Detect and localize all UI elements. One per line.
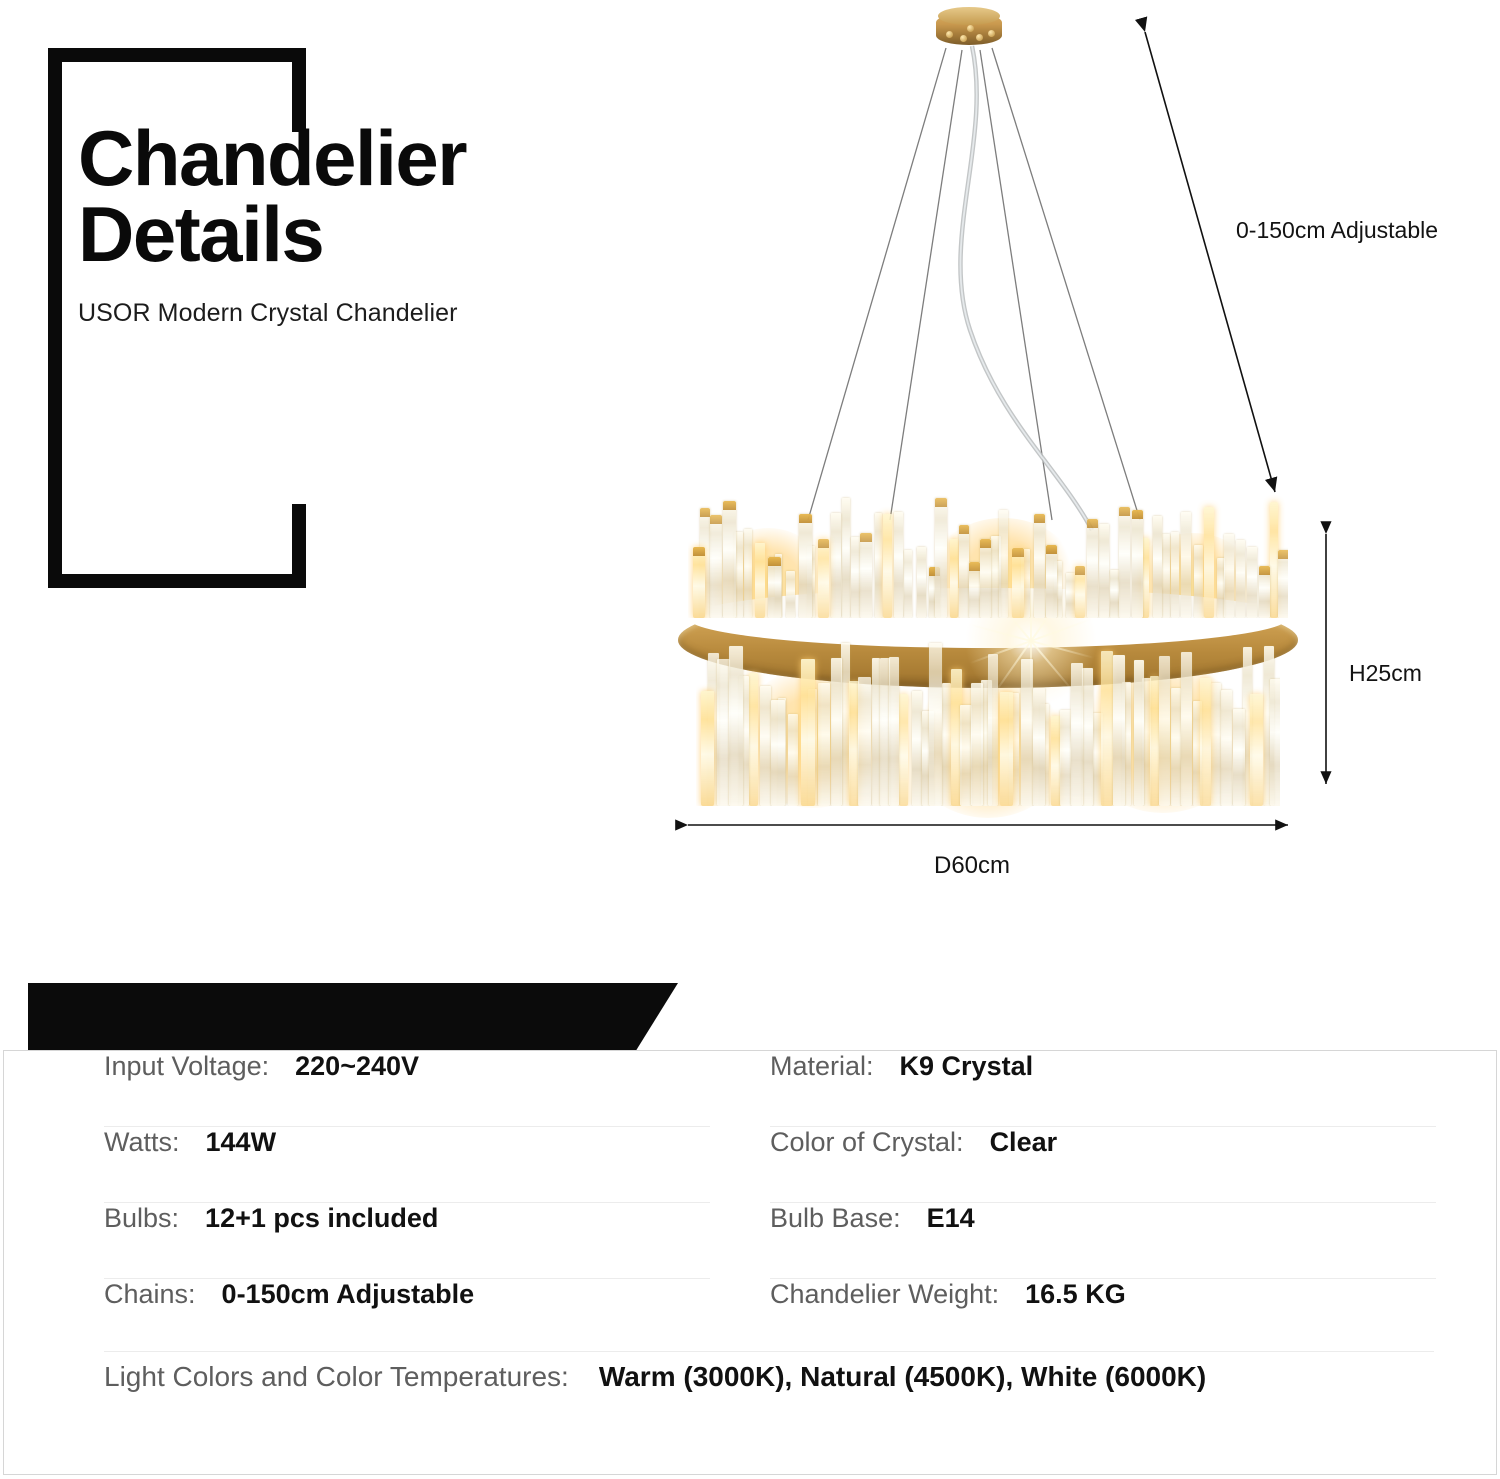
- crystal-gold-tip: [723, 501, 736, 510]
- crystal-rod: [1099, 524, 1109, 618]
- spec-row: Watts:144W: [104, 1127, 710, 1203]
- page-title-line2: Details: [78, 196, 698, 272]
- crystal-rod: [1171, 688, 1181, 806]
- crystal-rod: [1012, 548, 1024, 618]
- crystal-rod: [1159, 656, 1170, 806]
- crystal-rod: [1247, 547, 1257, 618]
- crystal-rod: [760, 686, 771, 806]
- crystal-gold-tip: [1075, 566, 1085, 575]
- crystal-gold-tip: [1278, 550, 1288, 559]
- crystal-rod: [1113, 655, 1125, 806]
- crystal-rod: [749, 673, 758, 806]
- spec-column-left: Input Voltage:220~240VWatts:144WBulbs:12…: [4, 1051, 750, 1355]
- crystal-rod: [755, 543, 765, 618]
- crystal-gold-tip: [710, 515, 722, 524]
- crystal-rod: [1071, 663, 1083, 806]
- crystal-rod: [693, 547, 705, 618]
- spec-value: E14: [927, 1203, 975, 1234]
- spec-label: Chains:: [104, 1279, 196, 1310]
- crystal-rod: [872, 658, 880, 806]
- crystal-rod: [971, 683, 983, 806]
- crystal-rod: [788, 714, 798, 806]
- crystal-rod: [1221, 690, 1232, 806]
- crystal-rod: [1119, 507, 1130, 618]
- crystal-rod: [1060, 710, 1071, 806]
- crystal-rod: [1171, 532, 1179, 618]
- spec-column-right: Material:K9 CrystalColor of Crystal:Clea…: [750, 1051, 1496, 1355]
- crystal-rod: [904, 550, 912, 618]
- spec-row: Material:K9 Crystal: [770, 1051, 1436, 1127]
- product-photo: [640, 0, 1500, 900]
- crystal-rod: [1033, 688, 1045, 806]
- spec-value: K9 Crystal: [900, 1051, 1034, 1082]
- spec-value: 220~240V: [295, 1051, 419, 1082]
- crystal-rod: [771, 700, 785, 806]
- spec-row: Chains:0-150cm Adjustable: [104, 1279, 710, 1355]
- crystal-rod: [1101, 651, 1113, 806]
- crystal-rod: [860, 533, 872, 618]
- crystal-rod: [988, 654, 998, 806]
- crystal-rod: [912, 691, 922, 806]
- spec-row-light-colors: Light Colors and Color Temperatures: War…: [104, 1361, 1434, 1437]
- crystal-rod: [768, 557, 781, 618]
- spec-value: Warm (3000K), Natural (4500K), White (60…: [599, 1361, 1206, 1393]
- crystal-rod: [1150, 676, 1159, 806]
- crystal-rod: [831, 658, 842, 806]
- spec-banner-title: PRODUCT SPECIFICATION: [34, 12, 491, 52]
- crystal-gold-tip: [1259, 566, 1270, 575]
- crystal-gold-tip: [1132, 510, 1143, 519]
- crystal-rod: [1162, 534, 1170, 618]
- crystal-gold-tip: [1034, 514, 1045, 523]
- crystal-gold-tip: [700, 508, 710, 517]
- crystal-gold-tip: [693, 547, 705, 556]
- crystal-rod: [801, 659, 815, 806]
- crystal-rod: [969, 562, 980, 618]
- crystal-rod: [1066, 573, 1075, 618]
- crystal-rod: [1204, 507, 1214, 618]
- crystal-rod: [889, 657, 899, 806]
- crystal-rod: [1181, 652, 1192, 806]
- crystal-rod: [875, 513, 882, 618]
- crystal-rod: [929, 643, 942, 806]
- crystal-rod: [942, 683, 951, 806]
- crystal-rod: [1021, 659, 1033, 806]
- page-subtitle: USOR Modern Crystal Chandelier: [78, 299, 698, 328]
- spec-label: Color of Crystal:: [770, 1127, 964, 1158]
- crystal-rod: [729, 646, 743, 806]
- spec-value: 16.5 KG: [1025, 1279, 1126, 1310]
- crystal-gold-tip: [799, 514, 812, 523]
- crystal-rod: [1233, 709, 1245, 806]
- spec-row: Color of Crystal:Clear: [770, 1127, 1436, 1203]
- spec-label: Material:: [770, 1051, 874, 1082]
- crystal-rod: [1250, 694, 1263, 806]
- crystal-gold-tip: [980, 539, 991, 548]
- crystal-rod: [858, 677, 871, 806]
- spec-label: Chandelier Weight:: [770, 1279, 999, 1310]
- spec-row: Chandelier Weight:16.5 KG: [770, 1279, 1436, 1355]
- crystal-rod: [1075, 566, 1085, 618]
- spec-full-row-divider: [104, 1351, 1434, 1352]
- crystal-rod: [1194, 545, 1203, 618]
- crystal-rod: [999, 510, 1008, 618]
- spec-table: Input Voltage:220~240VWatts:144WBulbs:12…: [3, 1050, 1497, 1475]
- crystal-rod: [1200, 678, 1211, 806]
- crystal-gold-tip: [935, 498, 947, 507]
- crystal-rod: [1153, 516, 1162, 618]
- crystal-rod: [1134, 660, 1144, 806]
- crystal-rod: [1278, 550, 1288, 618]
- crystal-gold-tip: [1012, 548, 1024, 557]
- crystal-rod: [1110, 570, 1119, 618]
- page-title-group: Chandelier Details USOR Modern Crystal C…: [78, 120, 698, 328]
- product-detail-page: Chandelier Details USOR Modern Crystal C…: [0, 0, 1500, 1479]
- frame-left-edge: [48, 48, 62, 588]
- crystal-gold-tip: [969, 562, 980, 571]
- spec-value: Clear: [990, 1127, 1058, 1158]
- crystal-rod: [935, 498, 947, 618]
- crystal-rod: [842, 498, 850, 618]
- crystal-rod: [1270, 679, 1280, 806]
- crystal-rod: [959, 525, 969, 618]
- crystal-rod: [744, 529, 752, 618]
- frame-right-bottom-edge: [292, 504, 306, 588]
- crystal-rod: [786, 571, 795, 618]
- spec-label: Bulbs:: [104, 1203, 179, 1234]
- spec-row: Bulbs:12+1 pcs included: [104, 1203, 710, 1279]
- crystal-rod: [710, 515, 722, 618]
- crystal-rod: [851, 537, 860, 618]
- crystal-rod: [1000, 692, 1013, 806]
- crystal-rod: [1259, 566, 1270, 618]
- power-cord: [960, 46, 1092, 530]
- crystal-rod: [701, 691, 714, 806]
- crystal-rod: [1132, 510, 1143, 618]
- crystal-row-lower: [696, 636, 1280, 806]
- crystal-rod: [1224, 534, 1234, 618]
- spec-value: 12+1 pcs included: [205, 1203, 438, 1234]
- crystal-rod: [831, 513, 841, 618]
- crystal-gold-tip: [1046, 545, 1057, 554]
- crystal-gold-tip: [860, 533, 872, 542]
- crystal-rod: [1270, 502, 1278, 618]
- crystal-rod: [894, 512, 903, 618]
- spec-label: Bulb Base:: [770, 1203, 901, 1234]
- crystal-rod: [1211, 683, 1221, 806]
- crystal-rod: [818, 683, 830, 806]
- crystal-rod: [1181, 512, 1191, 618]
- spec-row: Input Voltage:220~240V: [104, 1051, 710, 1127]
- crystal-rod: [883, 514, 892, 618]
- spec-label: Input Voltage:: [104, 1051, 269, 1082]
- spec-label: Light Colors and Color Temperatures:: [104, 1361, 569, 1393]
- spec-banner: [28, 983, 678, 1051]
- crystal-row-upper: [688, 488, 1288, 618]
- crystal-rod: [723, 501, 736, 618]
- crystal-rod: [917, 547, 926, 618]
- crystal-rod: [1046, 545, 1057, 618]
- crystal-rod: [1236, 540, 1245, 618]
- page-title-line1: Chandelier: [78, 120, 698, 196]
- crystal-rod: [950, 539, 958, 618]
- crystal-gold-tip: [818, 539, 829, 548]
- crystal-gold-tip: [959, 525, 969, 534]
- crystal-gold-tip: [1119, 507, 1130, 516]
- crystal-rod: [818, 539, 829, 618]
- frame-bottom-edge: [48, 574, 306, 588]
- crystal-rod: [980, 539, 991, 618]
- chandelier-fixture: [678, 488, 1298, 808]
- crystal-rod: [899, 694, 908, 806]
- crystal-rod: [1082, 668, 1093, 806]
- spec-columns: Input Voltage:220~240VWatts:144WBulbs:12…: [4, 1051, 1496, 1355]
- spec-label: Watts:: [104, 1127, 180, 1158]
- crystal-gold-tip: [1087, 519, 1098, 528]
- spec-row: Bulb Base:E14: [770, 1203, 1436, 1279]
- crystal-rod: [799, 514, 812, 618]
- crystal-rod: [1087, 519, 1098, 618]
- spec-value: 144W: [206, 1127, 277, 1158]
- crystal-rod: [1034, 514, 1045, 618]
- spec-value: 0-150cm Adjustable: [222, 1279, 475, 1310]
- crystal-gold-tip: [768, 557, 781, 566]
